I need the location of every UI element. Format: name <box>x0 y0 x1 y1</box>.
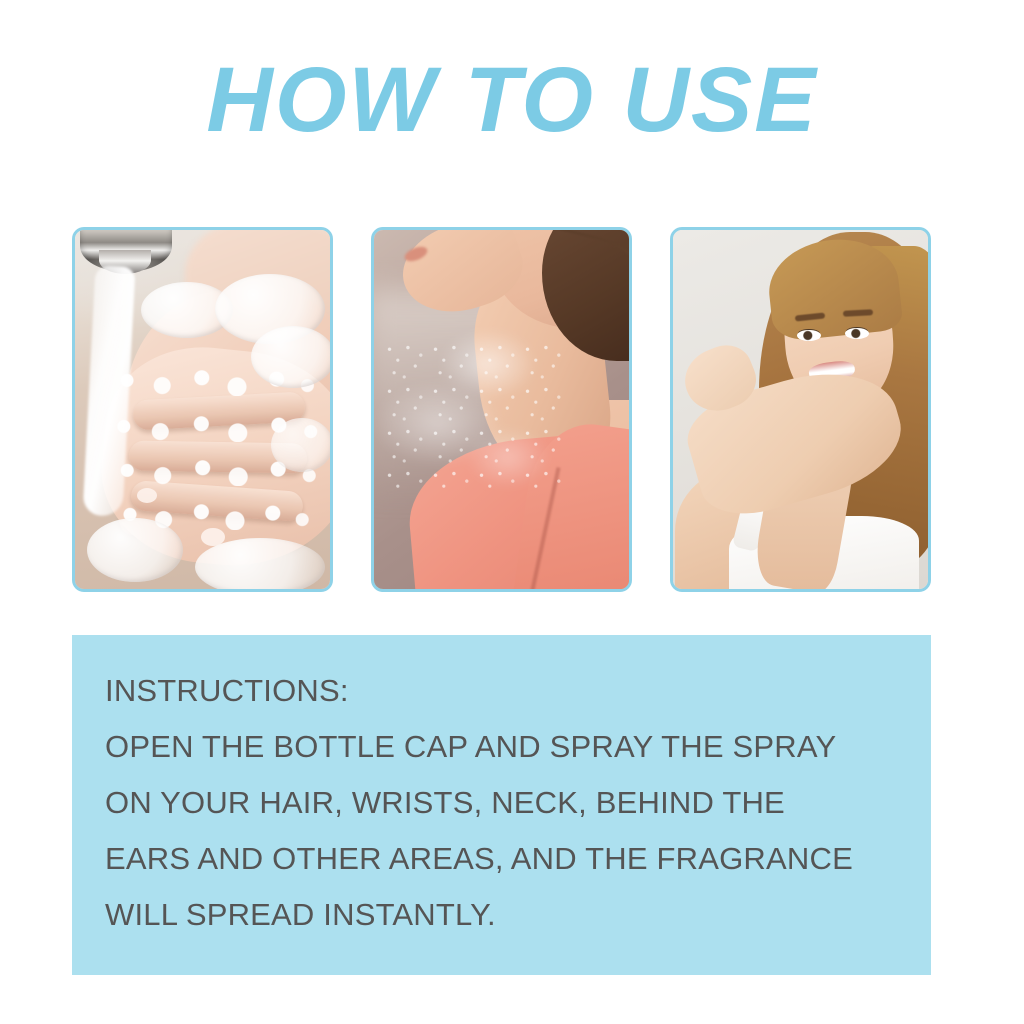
instructions-heading: INSTRUCTIONS: <box>105 663 905 719</box>
instructions-text-block: INSTRUCTIONS: OPEN THE BOTTLE CAP AND SP… <box>105 663 905 943</box>
instructions-line-4: WILL SPREAD INSTANTLY. <box>105 887 905 943</box>
instructions-line-3: EARS AND OTHER AREAS, AND THE FRAGRANCE <box>105 831 905 887</box>
wash-hands-photo <box>72 227 333 592</box>
spray-neck-photo-image <box>374 230 629 589</box>
smell-wrist-photo <box>670 227 931 592</box>
spray-neck-photo <box>371 227 632 592</box>
smell-wrist-photo-image <box>673 230 928 589</box>
instructions-panel: INSTRUCTIONS: OPEN THE BOTTLE CAP AND SP… <box>72 635 931 975</box>
instructions-line-2: ON YOUR HAIR, WRISTS, NECK, BEHIND THE <box>105 775 905 831</box>
photo-strip <box>72 227 931 592</box>
instructions-line-1: OPEN THE BOTTLE CAP AND SPRAY THE SPRAY <box>105 719 905 775</box>
page-title: HOW TO USE <box>0 52 1024 148</box>
wash-hands-photo-image <box>75 230 330 589</box>
